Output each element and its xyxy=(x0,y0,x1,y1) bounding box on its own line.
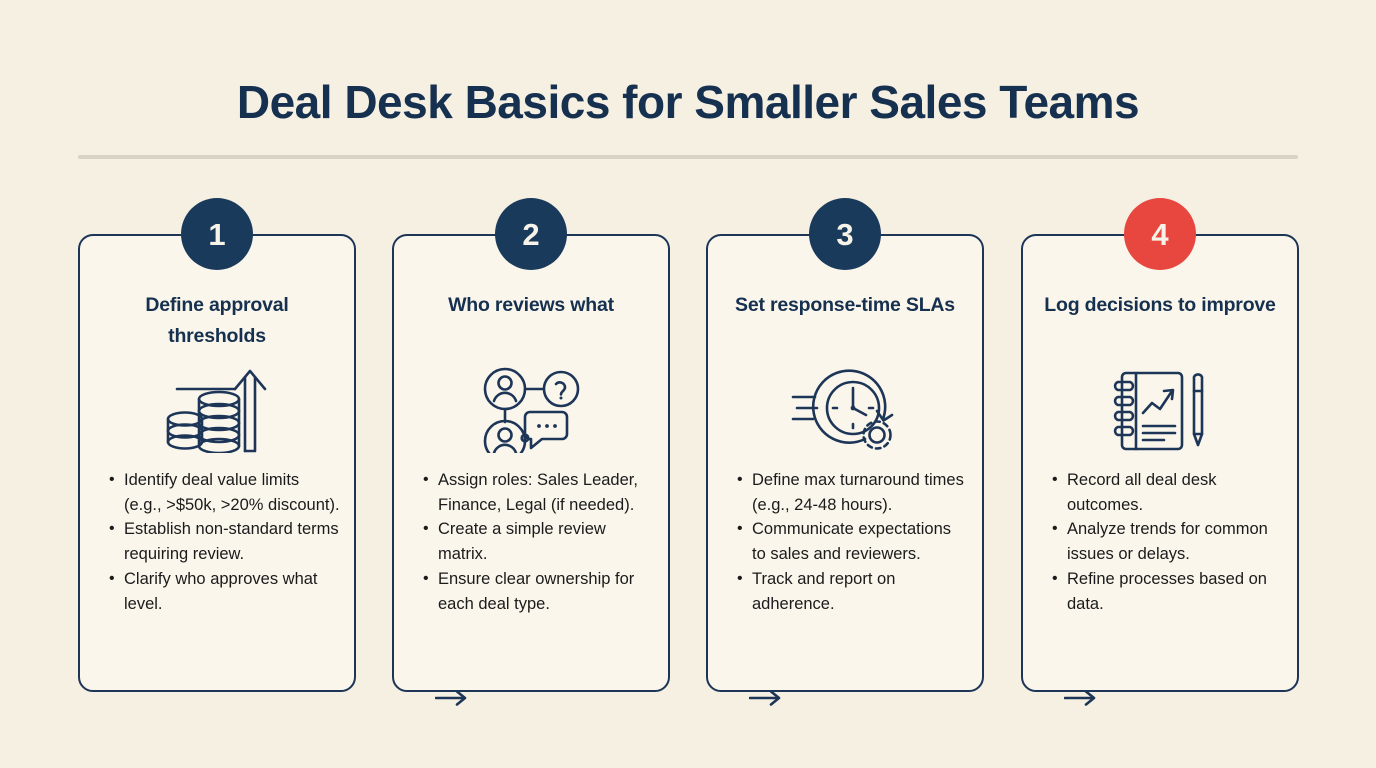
list-item: Assign roles: Sales Leader, Finance, Leg… xyxy=(438,468,654,517)
arrow-right-icon xyxy=(1064,689,1100,707)
list-item: Communicate expectations to sales and re… xyxy=(752,517,968,566)
page-title: Deal Desk Basics for Smaller Sales Teams xyxy=(0,72,1376,132)
clock-speed-gear-icon xyxy=(708,366,982,454)
list-item: Analyze trends for common issues or dela… xyxy=(1067,517,1283,566)
list-item: Clarify who approves what level. xyxy=(124,567,340,616)
step-card-row: 1 Define approval thresholds xyxy=(78,234,1299,692)
list-item: Record all deal desk outcomes. xyxy=(1067,468,1283,517)
list-item: Identify deal value limits (e.g., >$50k,… xyxy=(124,468,340,517)
arrow-right-icon xyxy=(749,689,785,707)
step-card-3[interactable]: 3 Set response-time SLAs xyxy=(706,234,984,692)
list-item: Create a simple review matrix. xyxy=(438,517,654,566)
step-bullets-2: Assign roles: Sales Leader, Finance, Leg… xyxy=(416,468,654,616)
coin-stack-growth-icon xyxy=(80,366,354,454)
title-divider xyxy=(78,155,1298,159)
step-bullets-3: Define max turnaround times (e.g., 24-48… xyxy=(730,468,968,616)
list-item: Refine processes based on data. xyxy=(1067,567,1283,616)
step-card-4[interactable]: 4 Log decisions to improve xyxy=(1021,234,1299,692)
list-item: Track and report on adherence. xyxy=(752,567,968,616)
step-bullets-1: Identify deal value limits (e.g., >$50k,… xyxy=(102,468,340,616)
step-heading-2: Who reviews what xyxy=(408,290,654,321)
arrow-right-icon xyxy=(435,689,471,707)
step-number-1: 1 xyxy=(208,219,225,250)
step-badge-3: 3 xyxy=(809,198,881,270)
people-question-chat-icon xyxy=(394,366,668,454)
notebook-trend-pen-icon xyxy=(1023,366,1297,454)
step-badge-4: 4 xyxy=(1124,198,1196,270)
step-number-4: 4 xyxy=(1151,219,1168,250)
list-item: Establish non-standard terms requiring r… xyxy=(124,517,340,566)
step-badge-2: 2 xyxy=(495,198,567,270)
step-number-2: 2 xyxy=(522,219,539,250)
step-heading-4: Log decisions to improve xyxy=(1037,290,1283,321)
infographic-canvas: Deal Desk Basics for Smaller Sales Teams… xyxy=(0,0,1376,768)
step-heading-3: Set response-time SLAs xyxy=(722,290,968,321)
step-heading-1: Define approval thresholds xyxy=(94,290,340,352)
list-item: Define max turnaround times (e.g., 24-48… xyxy=(752,468,968,517)
step-card-2[interactable]: 2 Who reviews what xyxy=(392,234,670,692)
step-card-1[interactable]: 1 Define approval thresholds xyxy=(78,234,356,692)
step-bullets-4: Record all deal desk outcomes. Analyze t… xyxy=(1045,468,1283,616)
step-badge-1: 1 xyxy=(181,198,253,270)
step-number-3: 3 xyxy=(836,219,853,250)
list-item: Ensure clear ownership for each deal typ… xyxy=(438,567,654,616)
